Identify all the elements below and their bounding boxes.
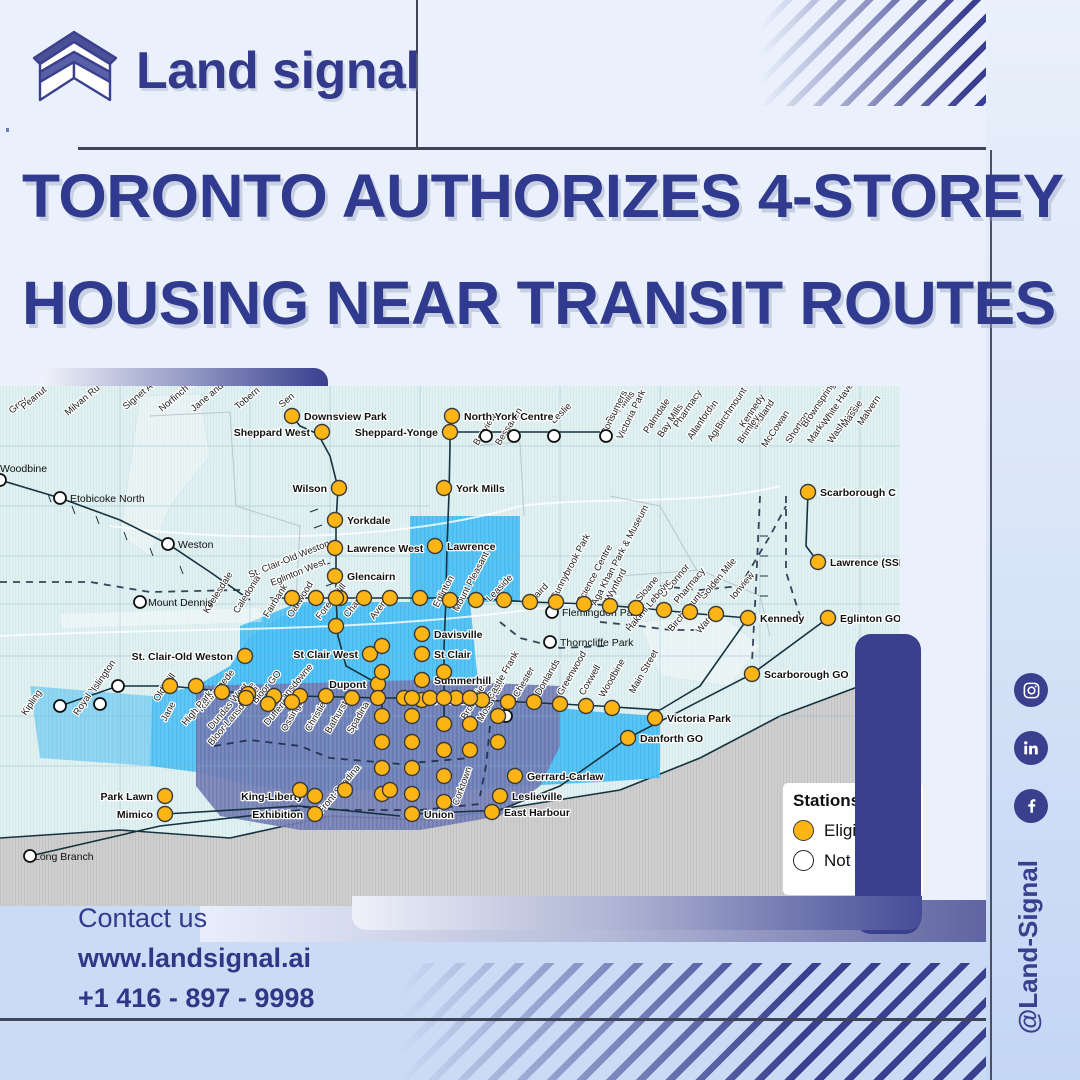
station-dot-eligible[interactable] — [621, 731, 636, 746]
station-label: Yorkdale — [347, 515, 391, 527]
station-dot-not-eligible[interactable] — [94, 698, 106, 710]
svg-text:Mount Dennis: Mount Dennis — [148, 597, 213, 609]
station-dot-eligible[interactable] — [579, 699, 594, 714]
station-dot-eligible[interactable] — [285, 591, 300, 606]
station-label: Danforth GO — [640, 733, 703, 745]
facebook-icon[interactable] — [1014, 789, 1048, 823]
station-dot-eligible[interactable] — [437, 665, 452, 680]
station-dot-eligible[interactable] — [463, 691, 478, 706]
decor-plate-right — [855, 634, 921, 934]
station-dot-eligible[interactable] — [261, 697, 276, 712]
station-dot-eligible[interactable] — [285, 695, 300, 710]
station-label: Eglinton GO — [840, 613, 900, 625]
station-dot-eligible[interactable] — [508, 769, 523, 784]
station-dot-eligible[interactable] — [413, 591, 428, 606]
station-label: Kennedy — [760, 613, 805, 625]
station-label: Gerrard-Carlaw — [527, 771, 604, 783]
station-dot-eligible[interactable] — [469, 593, 484, 608]
station-dot-eligible[interactable] — [285, 409, 300, 424]
station-dot-not-eligible[interactable] — [600, 430, 612, 442]
headline-line-1: TORONTO AUTHORIZES 4-STOREY — [22, 166, 991, 227]
station-dot-eligible[interactable] — [549, 595, 564, 610]
station-dot-eligible[interactable] — [415, 673, 430, 688]
station-dot-eligible[interactable] — [405, 691, 420, 706]
brand-logo[interactable]: Land signal — [26, 26, 419, 116]
contact-website[interactable]: www.landsignal.ai — [78, 943, 314, 974]
station-dot-eligible[interactable] — [383, 591, 398, 606]
station-dot-eligible[interactable] — [437, 691, 452, 706]
station-dot-eligible[interactable] — [375, 709, 390, 724]
station-dot-eligible[interactable] — [741, 611, 756, 626]
station-label: Sheppard-Yonge — [355, 427, 438, 439]
svg-text:Thorncliffe Park: Thorncliffe Park — [560, 637, 634, 649]
station-dot-eligible[interactable] — [163, 679, 178, 694]
station-dot-eligible[interactable] — [493, 789, 508, 804]
station-dot-eligible[interactable] — [415, 627, 430, 642]
station-dot-eligible[interactable] — [443, 593, 458, 608]
station-label: North York Centre — [464, 411, 554, 423]
station-dot-not-eligible[interactable] — [54, 492, 66, 504]
headline: TORONTO AUTHORIZES 4-STOREY HOUSING NEAR… — [22, 166, 972, 380]
station-dot-eligible[interactable] — [405, 709, 420, 724]
station-dot-eligible[interactable] — [491, 709, 506, 724]
station-dot-eligible[interactable] — [437, 481, 452, 496]
eligible-dot-icon — [793, 820, 814, 841]
svg-text:Etobicoke North: Etobicoke North — [70, 493, 145, 505]
station-dot-eligible[interactable] — [745, 667, 760, 682]
station-dot-eligible[interactable] — [383, 783, 398, 798]
station-dot-eligible[interactable] — [497, 593, 512, 608]
station-dot-eligible[interactable] — [371, 691, 386, 706]
station-dot-eligible[interactable] — [319, 689, 334, 704]
station-dot-eligible[interactable] — [415, 647, 430, 662]
station-dot-eligible[interactable] — [189, 679, 204, 694]
station-label: Dupont — [329, 679, 366, 691]
station-dot-eligible[interactable] — [577, 597, 592, 612]
station-dot-not-eligible[interactable] — [112, 680, 124, 692]
svg-text:Long Branch: Long Branch — [34, 851, 94, 863]
station-dot-eligible[interactable] — [629, 601, 644, 616]
station-dot-eligible[interactable] — [309, 591, 324, 606]
transit-map-svg: .sl{font-family:"Liberation Sans",sans-s… — [0, 386, 900, 906]
header-horizontal-divider — [78, 147, 986, 150]
station-dot-eligible[interactable] — [553, 697, 568, 712]
station-dot-not-eligible[interactable] — [544, 636, 556, 648]
station-dot-eligible[interactable] — [158, 789, 173, 804]
station-label: St. Clair-Old Weston — [132, 651, 233, 663]
station-dot-eligible[interactable] — [215, 685, 230, 700]
station-dot-eligible[interactable] — [345, 691, 360, 706]
station-dot-eligible[interactable] — [238, 649, 253, 664]
station-dot-eligible[interactable] — [328, 541, 343, 556]
station-dot-eligible[interactable] — [527, 695, 542, 710]
station-label: Union — [424, 809, 454, 821]
station-dot-not-eligible[interactable] — [480, 430, 492, 442]
decorative-dot — [6, 128, 9, 132]
station-dot-eligible[interactable] — [523, 595, 538, 610]
station-label: Lawrence (SSE — [830, 557, 900, 569]
station-label: Exhibition — [252, 809, 303, 821]
station-dot-not-eligible[interactable] — [54, 700, 66, 712]
station-dot-eligible[interactable] — [491, 735, 506, 750]
contact-phone[interactable]: +1 416 - 897 - 9998 — [78, 983, 314, 1014]
svg-text:Weston: Weston — [178, 539, 214, 551]
linkedin-icon[interactable] — [1014, 731, 1048, 765]
station-label: Davisville — [434, 629, 483, 641]
instagram-icon[interactable] — [1014, 673, 1048, 707]
station-dot-eligible[interactable] — [405, 787, 420, 802]
station-dot-eligible[interactable] — [328, 513, 343, 528]
station-dot-eligible[interactable] — [463, 717, 478, 732]
station-dot-not-eligible[interactable] — [162, 538, 174, 550]
station-dot-eligible[interactable] — [357, 591, 372, 606]
not-eligible-dot-icon — [793, 850, 814, 871]
station-dot-eligible[interactable] — [308, 789, 323, 804]
station-label: Wilson — [293, 483, 327, 495]
station-dot-eligible[interactable] — [801, 485, 816, 500]
station-label: Glencairn — [347, 571, 395, 583]
station-label: Park Lawn — [100, 791, 153, 803]
station-label: Lawrence West — [347, 543, 424, 555]
station-label: Sheppard West — [234, 427, 311, 439]
station-dot-eligible[interactable] — [463, 743, 478, 758]
station-dot-eligible[interactable] — [375, 665, 390, 680]
brand-name: Land signal — [136, 41, 419, 101]
station-dot-eligible[interactable] — [811, 555, 826, 570]
social-handle: @Land-Signal — [1013, 860, 1044, 1034]
station-dot-eligible[interactable] — [328, 569, 343, 584]
station-dot-eligible[interactable] — [375, 735, 390, 750]
station-dot-eligible[interactable] — [501, 695, 516, 710]
station-dot-not-eligible[interactable] — [508, 430, 520, 442]
station-dot-eligible[interactable] — [158, 807, 173, 822]
station-dot-eligible[interactable] — [657, 603, 672, 618]
station-dot-eligible[interactable] — [437, 743, 452, 758]
station-dot-eligible[interactable] — [405, 735, 420, 750]
contact-heading: Contact us — [78, 903, 314, 934]
station-dot-eligible[interactable] — [445, 409, 460, 424]
station-dot-eligible[interactable] — [375, 639, 390, 654]
station-dot-eligible[interactable] — [405, 761, 420, 776]
station-label: Mimico — [117, 809, 153, 821]
station-dot-eligible[interactable] — [821, 611, 836, 626]
station-dot-eligible[interactable] — [315, 425, 330, 440]
station-dot-eligible[interactable] — [683, 605, 698, 620]
station-dot-not-eligible[interactable] — [0, 474, 6, 486]
station-dot-eligible[interactable] — [437, 769, 452, 784]
station-label: Scarborough GO — [764, 669, 849, 681]
station-dot-eligible[interactable] — [437, 795, 452, 810]
station-label: East Harbour — [504, 807, 570, 819]
station-dot-eligible[interactable] — [437, 717, 452, 732]
station-dot-eligible[interactable] — [709, 607, 724, 622]
station-label: Lawrence — [447, 541, 496, 553]
station-dot-eligible[interactable] — [485, 805, 500, 820]
station-dot-eligible[interactable] — [423, 691, 438, 706]
station-dot-eligible[interactable] — [443, 425, 458, 440]
station-dot-eligible[interactable] — [603, 599, 618, 614]
poster-canvas: Land signal TORONTO AUTHORIZES 4-STOREY … — [0, 0, 1080, 1080]
diagonal-stripes-bottom — [398, 963, 1080, 1080]
station-label: Scarborough C — [820, 487, 896, 499]
svg-text:Woodbine: Woodbine — [0, 463, 47, 475]
station-dot-eligible[interactable] — [329, 591, 344, 606]
headline-line-2: HOUSING NEAR TRANSIT ROUTES — [22, 273, 991, 334]
decor-plate-bottom — [352, 896, 922, 930]
station-label: Downsview Park — [304, 411, 387, 423]
station-dot-eligible[interactable] — [332, 481, 347, 496]
station-dot-eligible[interactable] — [375, 761, 390, 776]
transit-map[interactable]: .sl{font-family:"Liberation Sans",sans-s… — [0, 386, 900, 906]
station-dot-not-eligible[interactable] — [548, 430, 560, 442]
social-links — [1014, 673, 1048, 823]
station-dot-eligible[interactable] — [648, 711, 663, 726]
station-label: St Clair — [434, 649, 471, 661]
bottom-divider — [0, 1018, 1080, 1021]
stacked-roof-logo-icon — [26, 26, 122, 116]
station-label: York Mills — [456, 483, 505, 495]
station-dot-eligible[interactable] — [428, 539, 443, 554]
station-dot-eligible[interactable] — [308, 807, 323, 822]
station-label: St Clair West — [293, 649, 358, 661]
station-label: Leslieville — [512, 791, 562, 803]
station-dot-eligible[interactable] — [338, 783, 353, 798]
station-dot-eligible[interactable] — [239, 691, 254, 706]
station-label: Victoria Park — [667, 713, 731, 725]
station-dot-not-eligible[interactable] — [134, 596, 146, 608]
station-dot-eligible[interactable] — [405, 807, 420, 822]
station-dot-not-eligible[interactable] — [24, 850, 36, 862]
contact-block: Contact us www.landsignal.ai +1 416 - 89… — [78, 903, 314, 1014]
station-dot-eligible[interactable] — [293, 783, 308, 798]
station-dot-eligible[interactable] — [605, 701, 620, 716]
station-dot-eligible[interactable] — [329, 619, 344, 634]
